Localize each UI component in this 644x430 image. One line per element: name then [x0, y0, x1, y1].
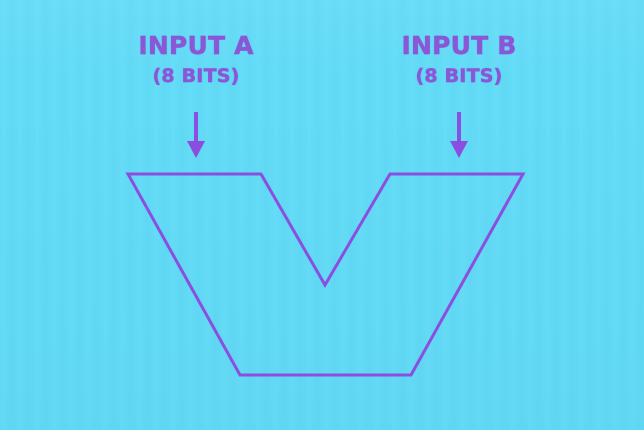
input-a-label: INPUT A (8 BITS) — [96, 33, 296, 86]
input-b-title: INPUT B — [359, 33, 559, 58]
input-b-label: INPUT B (8 BITS) — [359, 33, 559, 86]
alu-body-shape — [128, 174, 523, 375]
input-b-arrow-head — [450, 141, 468, 158]
input-a-subtitle: (8 BITS) — [96, 67, 296, 86]
input-b-subtitle: (8 BITS) — [359, 67, 559, 86]
input-a-title: INPUT A — [96, 33, 296, 58]
input-a-arrow-head — [187, 141, 205, 158]
diagram-canvas: INPUT A (8 BITS) INPUT B (8 BITS) — [0, 0, 644, 430]
input-a-arrow — [187, 112, 205, 158]
input-b-arrow — [450, 112, 468, 158]
